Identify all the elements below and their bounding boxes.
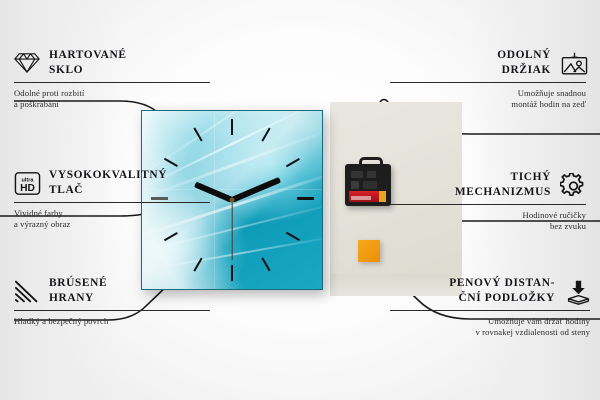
feature-description: Umožňuje snadnoumontáž hodin na zeď — [390, 88, 586, 111]
feature-description: Odolné proti rozbitía poškrábání — [14, 88, 210, 111]
divider — [14, 310, 210, 311]
divider — [390, 204, 586, 205]
feature-description: Hodinové ručičkybez zvuku — [390, 210, 586, 233]
gear-icon — [560, 173, 586, 196]
feature-hq-print: ultra HD VYSOKOKVALITNÝTLAČ Vividné farb… — [14, 168, 210, 231]
feature-silent-mechanism: TICHÝMECHANIZMUS Hodinové ručičkybez zvu… — [390, 170, 586, 233]
feature-description: Vividné farbya výrazný obraz — [14, 208, 210, 231]
feature-brushed-edges: BRÚSENÉHRANY Hladký a bezpečný povrch — [14, 276, 210, 327]
divider — [14, 82, 210, 83]
divider — [390, 310, 590, 311]
feature-title: PENOVÝ DISTAN-ČNÍ PODLOŽKY — [449, 276, 555, 305]
picture-hanger-icon — [560, 51, 586, 74]
feature-description: Hladký a bezpečný povrch — [14, 316, 210, 327]
feature-title: TICHÝMECHANIZMUS — [455, 170, 551, 199]
svg-text:HD: HD — [20, 183, 35, 194]
clock-mechanism — [345, 164, 391, 206]
feature-title: HARTOVANÉSKLO — [49, 48, 127, 77]
divider — [14, 202, 210, 203]
ultra-hd-badge-icon: ultra HD — [14, 171, 40, 194]
feature-title: ODOLNÝDRŽIAK — [497, 48, 551, 77]
feature-title: BRÚSENÉHRANY — [49, 276, 107, 305]
feature-title: VYSOKOKVALITNÝTLAČ — [49, 168, 167, 197]
brushed-edges-icon — [14, 279, 40, 302]
feature-foam-spacers: PENOVÝ DISTAN-ČNÍ PODLOŽKY Umožňuje vám … — [390, 276, 590, 339]
clock-center-pin — [230, 198, 235, 203]
foam-spacer-pad — [358, 240, 380, 262]
foam-pad-icon — [564, 279, 590, 302]
feature-durable-hanger: ODOLNÝDRŽIAK Umožňuje snadnoumontáž hodi… — [390, 48, 586, 111]
feature-description: Umožňuje vám držať hodinyv rovnakej vzdi… — [390, 316, 590, 339]
second-hand — [231, 200, 232, 260]
divider — [390, 82, 586, 83]
feature-hardened-glass: HARTOVANÉSKLO Odolné proti rozbitía pošk… — [14, 48, 210, 111]
infographic-canvas: HARTOVANÉSKLO Odolné proti rozbitía pošk… — [0, 0, 600, 400]
diamond-icon — [14, 51, 40, 74]
